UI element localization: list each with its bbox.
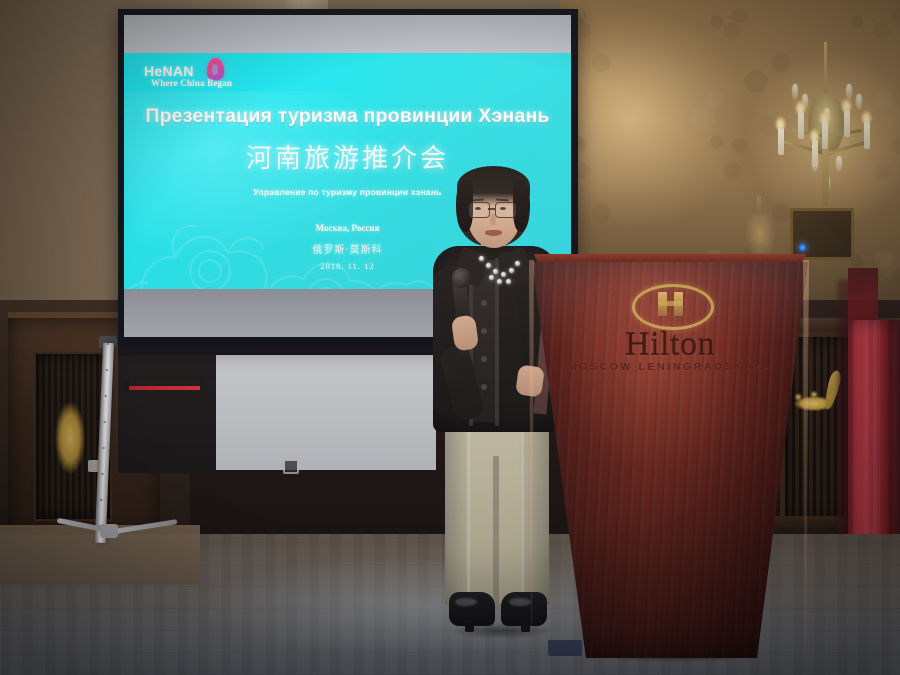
speaker-necklace [477, 252, 521, 286]
necklace-bead [493, 269, 498, 274]
chandelier-rod [824, 42, 827, 100]
candle-flame-icon [809, 128, 820, 142]
nose [490, 214, 496, 225]
hilton-podium: Hilton MOSCOW LENINGRADSKAYA [520, 258, 820, 658]
glasses-lens-left [469, 202, 490, 218]
candle [844, 110, 850, 137]
handrail-bracket [124, 379, 129, 393]
candle-flame-icon [819, 110, 830, 124]
henan-tagline: Where China Began [151, 78, 232, 88]
necklace-bead [489, 275, 494, 280]
necklace-bead [501, 272, 506, 277]
cardigan-button [481, 384, 487, 390]
white-wall-panel [216, 352, 436, 470]
framed-picture [790, 208, 854, 260]
cardigan-button [481, 356, 487, 362]
candle [812, 140, 818, 167]
cardigan-button [481, 328, 487, 334]
crystal-drop-icon [856, 94, 862, 110]
candle-flame-icon [841, 98, 852, 112]
presentation-photo: HeNAN Where China Began Презентация тури… [0, 0, 900, 675]
candle-flame-icon [775, 116, 786, 130]
necklace-bead [497, 279, 502, 284]
handrail-bracket [200, 379, 205, 393]
emblem-oval [632, 284, 714, 330]
cardigan-button [481, 300, 487, 306]
podium-edge-left [529, 260, 534, 658]
crystal-drop-icon [792, 84, 798, 100]
hilton-property-name: MOSCOW LENINGRADSKAYA [520, 361, 820, 373]
necklace-bead [479, 256, 484, 261]
henan-wordmark: HeNAN [144, 63, 194, 79]
crystal-drop-icon [836, 156, 842, 172]
candle [798, 112, 804, 139]
necklace-bead [509, 268, 514, 273]
screen-blank-top [124, 15, 571, 53]
candle [822, 122, 828, 149]
gilded-ornament-icon [55, 402, 85, 474]
necklace-bead [506, 279, 511, 284]
blue-indicator-light [799, 243, 806, 252]
slide-title-russian: Презентация туризма провинции Хэнань [124, 105, 571, 128]
podium-edge-right [803, 260, 809, 658]
candle [864, 122, 870, 149]
tripod-foot [100, 524, 118, 538]
mouth [485, 230, 502, 236]
glasses-bridge [488, 208, 495, 210]
emblem-h-stroke [674, 292, 683, 316]
candle-flame-icon [795, 100, 806, 114]
glasses-lens-right [495, 202, 516, 218]
red-handrail [126, 386, 204, 390]
hilton-wordmark: Hilton [520, 326, 820, 364]
hilton-h-emblem-icon [632, 284, 708, 324]
necklace-bead [486, 263, 491, 268]
henan-logo: HeNAN Where China Began [144, 61, 274, 97]
wall-outlet [283, 459, 299, 474]
shoe-heel [465, 620, 474, 632]
henan-peony-mark-icon [207, 58, 224, 80]
candle-flame-icon [861, 110, 872, 124]
crystal-chandelier [768, 36, 886, 211]
shoe-highlight [455, 598, 477, 606]
curtain-top [848, 268, 878, 328]
candle [778, 128, 784, 155]
chandelier-stem [822, 148, 829, 206]
